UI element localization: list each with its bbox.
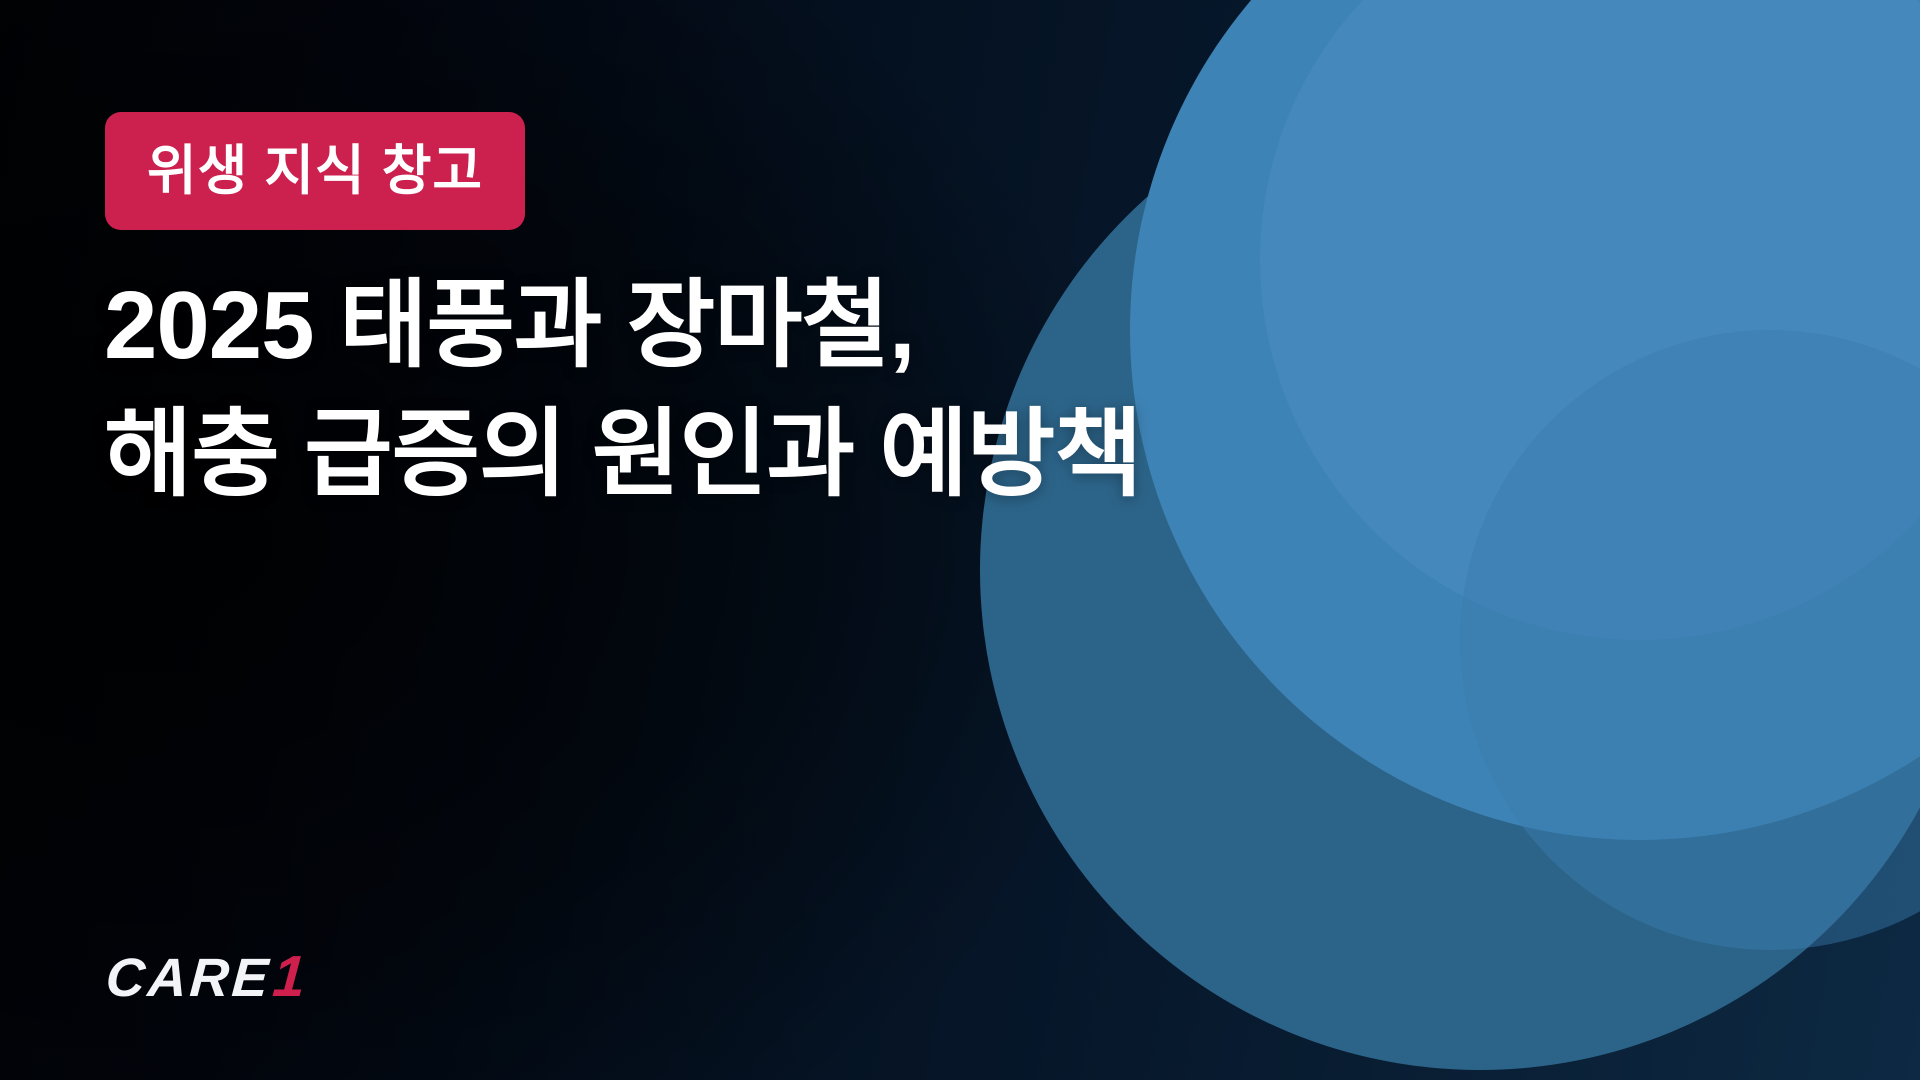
care1-logo: CARE 1 [106,948,305,1006]
category-badge: 위생 지식 창고 [105,112,525,230]
logo-wordmark: CARE [104,951,273,1005]
page-title-line-1: 2025 태풍과 장마철, [104,262,1444,391]
logo-numeral: 1 [271,948,307,1006]
thumbnail-canvas: 위생 지식 창고 2025 태풍과 장마철, 해충 급증의 원인과 예방책 CA… [0,0,1920,1080]
page-title: 2025 태풍과 장마철, 해충 급증의 원인과 예방책 [104,262,1444,519]
page-title-line-2: 해충 급증의 원인과 예방책 [104,391,1444,520]
content-layer: 위생 지식 창고 2025 태풍과 장마철, 해충 급증의 원인과 예방책 CA… [0,0,1920,1080]
